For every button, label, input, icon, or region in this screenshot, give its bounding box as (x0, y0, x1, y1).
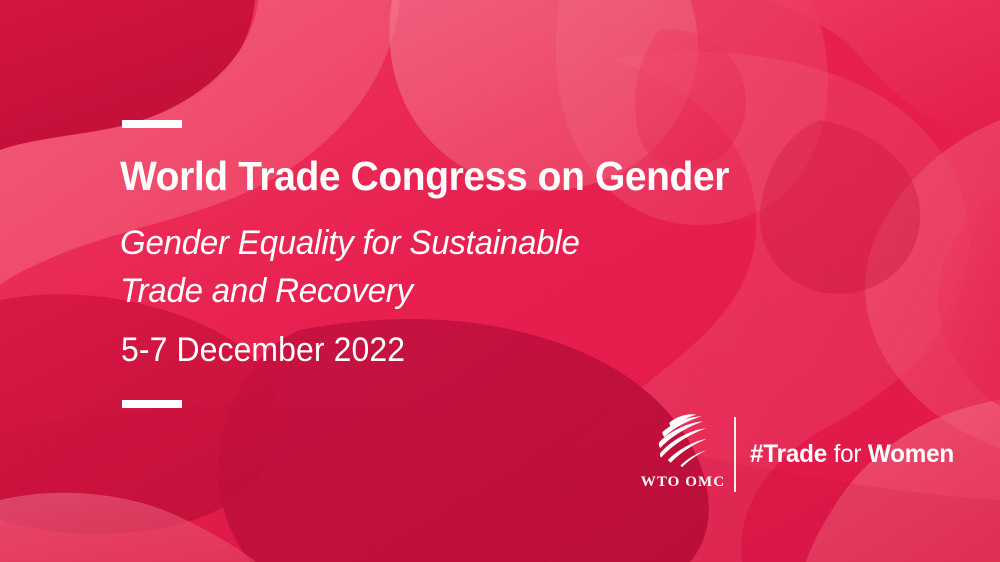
hashtag-bold-prefix: #Trade (750, 440, 827, 468)
banner-content: World Trade Congress on Gender Gender Eq… (0, 0, 1000, 562)
lockup-divider (734, 417, 736, 492)
wto-wordmark: WTO OMC (641, 474, 726, 491)
wto-logo: WTO OMC (640, 412, 726, 496)
bottom-divider-rule (122, 400, 182, 408)
hashtag-bold-suffix: Women (868, 440, 954, 468)
wto-globe-icon (651, 412, 715, 470)
subtitle-line-1: Gender Equality for Sustainable (120, 219, 580, 267)
logo-lockup: WTO OMC #Trade for Women (640, 412, 960, 496)
hashtag-light-middle: for (827, 440, 868, 468)
top-divider-rule (122, 120, 182, 128)
event-banner: World Trade Congress on Gender Gender Eq… (0, 0, 1000, 562)
subtitle-line-2: Trade and Recovery (120, 267, 580, 315)
hashtag-trade-for-women: #Trade for Women (750, 440, 954, 469)
event-date: 5-7 December 2022 (121, 330, 405, 370)
subtitle: Gender Equality for Sustainable Trade an… (120, 219, 580, 315)
page-title: World Trade Congress on Gender (120, 153, 729, 199)
